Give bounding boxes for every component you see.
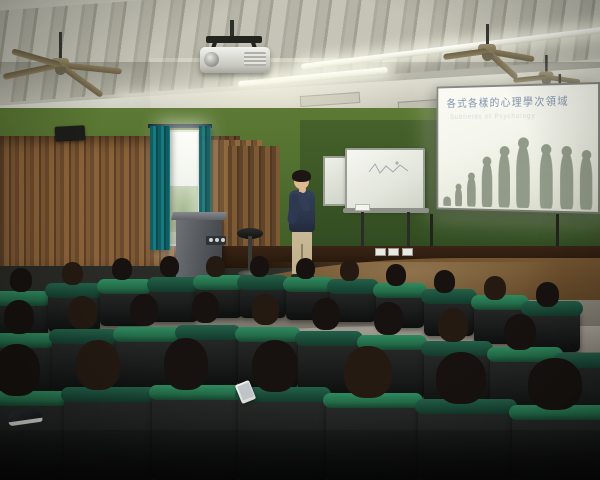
presenter-hand <box>300 186 306 193</box>
wall-outlet <box>402 248 413 256</box>
screen-border <box>437 82 600 214</box>
ceiling-speaker <box>55 125 86 142</box>
fan-rod <box>59 32 62 60</box>
student-head <box>62 262 83 285</box>
student-head <box>436 352 486 404</box>
auditorium-lecture-photo: 各式各樣的心理學次領域 Subfields of Psychology <box>0 0 600 480</box>
lectern-top <box>171 212 227 220</box>
student-head <box>252 294 279 325</box>
lectern-button <box>209 238 213 242</box>
smartphone-screen <box>237 382 254 400</box>
student-head <box>438 308 468 342</box>
student-head <box>164 338 208 390</box>
wood-slat-wall-panel <box>228 146 280 256</box>
student-head <box>192 292 219 323</box>
student-head <box>504 314 536 350</box>
lectern-button <box>221 238 225 242</box>
whiteboard <box>345 148 425 210</box>
student-head <box>252 340 298 392</box>
student-head <box>10 268 32 292</box>
student-head <box>374 302 403 335</box>
projector-vent-grille <box>244 52 266 66</box>
lectern-button <box>215 238 219 242</box>
student-head <box>130 294 158 326</box>
student-head <box>206 256 225 277</box>
student-head <box>528 358 582 410</box>
whiteboard-scribble <box>367 160 411 178</box>
curtain-left <box>150 126 170 250</box>
student-head <box>4 300 34 334</box>
student-head <box>296 258 315 279</box>
student-head <box>112 258 132 280</box>
student-head <box>312 298 340 330</box>
student-head <box>160 256 179 277</box>
foreground-shadow <box>0 430 600 480</box>
student-head <box>250 256 269 277</box>
wall-outlet <box>375 248 386 256</box>
student-head <box>340 260 359 281</box>
fan-rod <box>545 55 547 73</box>
screen-support-leg <box>556 214 559 248</box>
wall-outlet <box>388 248 399 256</box>
presenter-hair <box>292 170 311 182</box>
student-head <box>0 344 40 396</box>
student-head <box>484 276 506 300</box>
fan-rod <box>486 24 489 46</box>
student-head <box>76 340 120 390</box>
student-head <box>386 264 406 286</box>
projection-screen: 各式各樣的心理學次領域 Subfields of Psychology <box>437 82 600 214</box>
whiteboard-eraser <box>355 204 370 211</box>
student-head <box>434 270 455 293</box>
projector-lens <box>204 52 219 67</box>
student-head <box>344 346 392 398</box>
student-head <box>536 282 559 307</box>
student-head <box>68 296 97 329</box>
screen-support-leg <box>430 214 433 250</box>
